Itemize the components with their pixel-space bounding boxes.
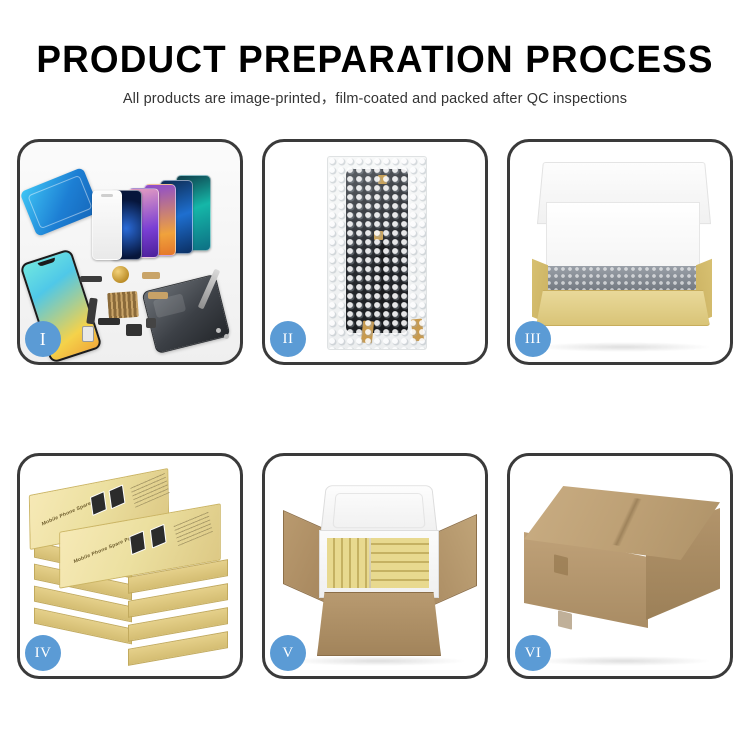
process-step-4: Mobile Phone Spare Parts Mobile Phone Sp… (17, 453, 243, 679)
drop-shadow (534, 342, 712, 352)
step-badge-1: I (25, 321, 61, 357)
adhesive-sheet-graphic (20, 167, 101, 237)
product-preparation-infographic: PRODUCT PREPARATION PROCESS All products… (0, 0, 750, 750)
step-badge-4: IV (25, 635, 61, 671)
speaker-part-graphic (112, 266, 129, 283)
flex-cable-graphic (126, 324, 142, 336)
part-bar-graphic (148, 292, 168, 299)
part-bar-graphic (80, 276, 102, 282)
white-foam-graphic (546, 202, 700, 272)
bubble-wrap-layer-graphic (546, 266, 698, 294)
carton-tape-graphic (558, 610, 572, 629)
kraft-box-front-graphic (536, 290, 710, 326)
carton-tape-graphic (554, 554, 568, 575)
step-badge-5: V (270, 635, 306, 671)
process-step-3: III (507, 139, 733, 365)
carton-front-graphic (317, 592, 441, 656)
part-bar-graphic (142, 272, 160, 279)
process-step-6: VI (507, 453, 733, 679)
step-badge-2: II (270, 321, 306, 357)
step-badge-6: VI (515, 635, 551, 671)
process-step-2: II (262, 139, 488, 365)
flex-cable-graphic (98, 318, 120, 325)
screw-tray-graphic (107, 291, 139, 319)
packed-boxes-graphic (327, 538, 429, 588)
phone-back-shell-graphic (141, 274, 230, 354)
bubble-wrap-texture (328, 157, 426, 349)
process-steps-grid: I II (17, 139, 733, 691)
bubble-bag-graphic (327, 156, 427, 350)
process-step-5: V (262, 453, 488, 679)
page-title: PRODUCT PREPARATION PROCESS (11, 38, 739, 82)
screw-graphic (216, 328, 221, 333)
screw-graphic (224, 334, 229, 339)
process-step-1: I (17, 139, 243, 365)
flex-cable-graphic (146, 318, 156, 328)
step-badge-3: III (515, 321, 551, 357)
drop-shadow (534, 656, 712, 666)
phone-fan-graphic (100, 180, 230, 262)
header: PRODUCT PREPARATION PROCESS All products… (0, 38, 750, 109)
page-subtitle: All products are image-printed，film-coat… (0, 89, 750, 109)
camera-module-graphic (82, 326, 94, 342)
drop-shadow (289, 656, 467, 666)
